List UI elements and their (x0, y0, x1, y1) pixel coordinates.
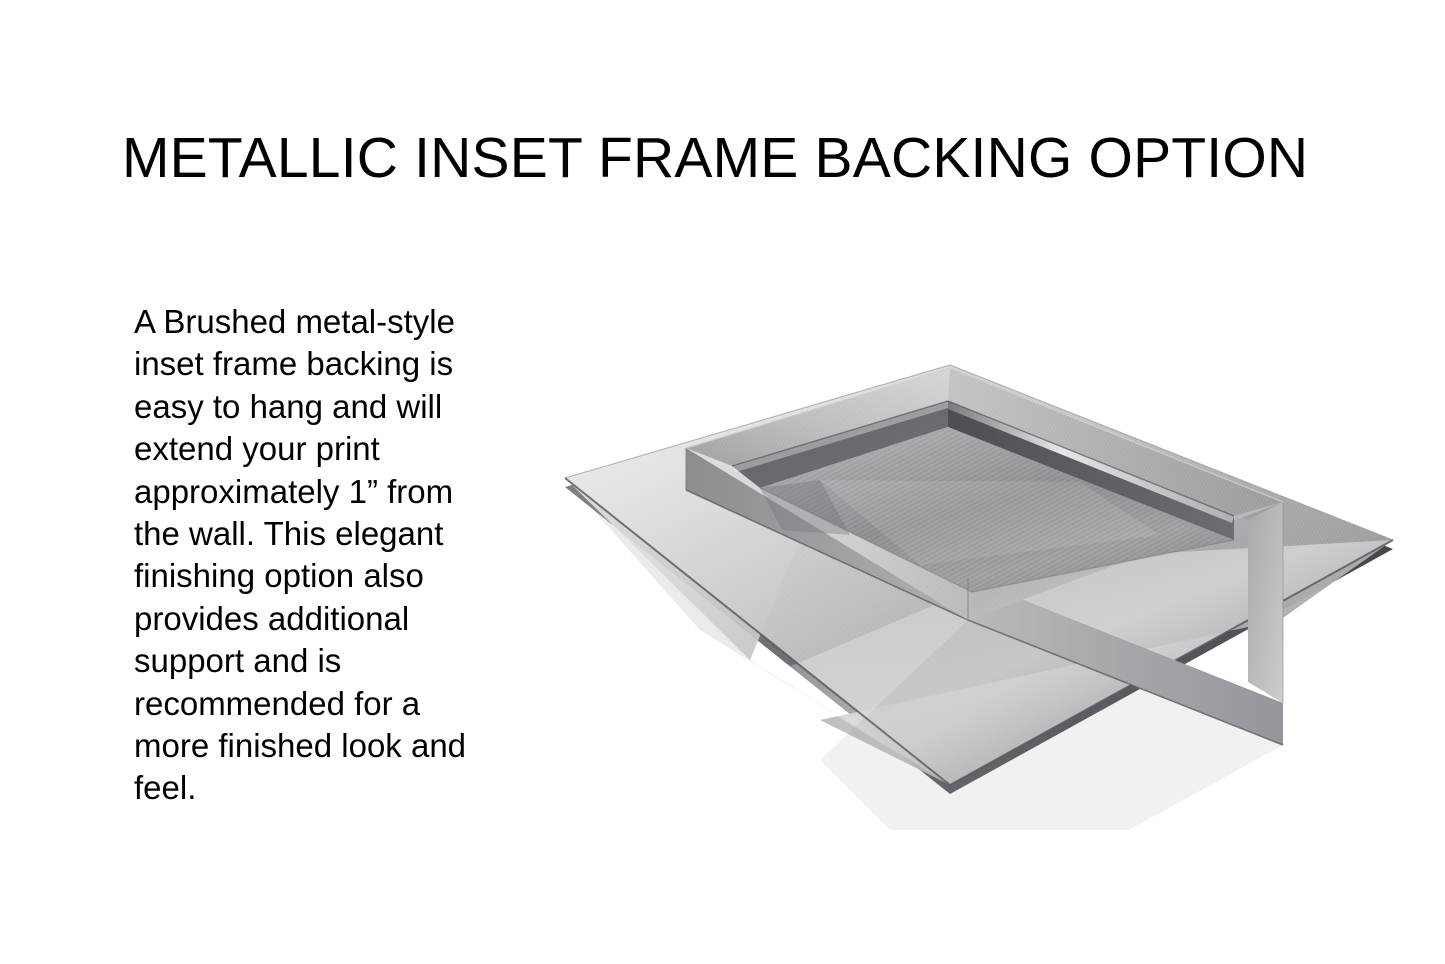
description-paragraph: A Brushed metal-style inset frame backin… (134, 301, 486, 810)
product-image (520, 330, 1420, 830)
inset-frame-illustration (520, 330, 1420, 830)
slide-canvas: METALLIC INSET FRAME BACKING OPTION A Br… (0, 0, 1445, 964)
page-title: METALLIC INSET FRAME BACKING OPTION (122, 128, 1322, 190)
